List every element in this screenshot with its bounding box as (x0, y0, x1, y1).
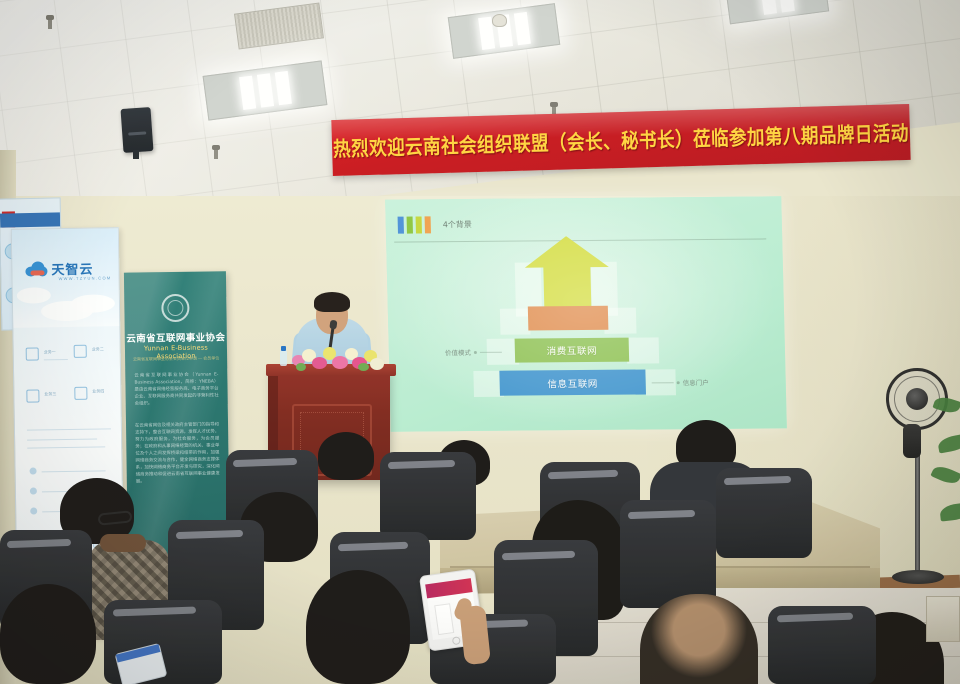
conference-photo-scene: 热烈欢迎云南社会组织联盟（会长、秘书长）莅临参加第八期品牌日活动 4个背景 (0, 0, 960, 684)
service-icon (74, 387, 87, 400)
service-label: 业务四 (92, 388, 104, 394)
service-icon (74, 345, 87, 358)
bullet-icon (30, 507, 37, 514)
audience-member (318, 432, 374, 480)
service-icon (26, 389, 39, 402)
side-table (926, 596, 960, 642)
pyramid-level-blue-label: 信息互联网 (547, 375, 598, 389)
poster-header-band (0, 212, 60, 227)
projection-screen: 4个背景 消费互联网 信息互联网 (385, 196, 787, 431)
plant-leaf (937, 434, 960, 454)
flower-leaf (296, 363, 306, 371)
audience-member (0, 584, 96, 684)
potted-plant (930, 398, 960, 538)
callout-dot-icon (677, 381, 680, 384)
chair[interactable] (716, 468, 812, 558)
callout-leader-line (480, 351, 502, 352)
tablet-app-header (425, 578, 473, 598)
section-divider (27, 446, 105, 448)
water-bottle-icon (280, 350, 287, 366)
cloud-logo-icon (25, 261, 47, 276)
bullet-icon (30, 487, 37, 494)
audience-head (306, 570, 410, 684)
plant-leaf (939, 502, 960, 521)
pyramid-callout-right-label: 信息门户 (683, 377, 709, 387)
bullet-icon (30, 467, 37, 474)
section-divider (27, 439, 97, 441)
flower (332, 356, 348, 369)
pyramid-level-green: 消费互联网 (515, 338, 630, 363)
wall-speaker-icon (121, 107, 154, 153)
ghost-block (627, 337, 660, 363)
audience-head (0, 584, 96, 684)
plant-leaf (930, 463, 960, 487)
flower-arrangement (290, 345, 386, 373)
flower-leaf (358, 363, 369, 371)
service-label: 业务二 (92, 346, 104, 352)
pyramid-level-blue: 信息互联网 (499, 369, 646, 395)
speaker-bracket (133, 150, 139, 159)
fan-hub (906, 388, 928, 410)
bullet-text-line (42, 470, 106, 472)
callout-dot-icon (474, 350, 477, 353)
chair[interactable] (620, 500, 716, 608)
service-label: 业务三 (44, 391, 56, 397)
pyramid-callout-right: 信息门户 (652, 377, 709, 387)
tablet-content-block (434, 603, 454, 635)
brand-url: WWW.TZYUN.COM (59, 275, 112, 281)
flower (370, 358, 384, 370)
pyramid-callout-left-label: 价值模式 (445, 347, 471, 357)
pyramid-diagram: 消费互联网 信息互联网 价值模式 信息门户 (385, 196, 787, 431)
fan-base (892, 570, 944, 584)
audience-scarf (100, 534, 146, 552)
dome-detector-icon (492, 14, 507, 27)
chair[interactable] (768, 606, 876, 684)
service-divider (44, 359, 68, 360)
audience-member (306, 570, 410, 684)
ghost-block (500, 308, 531, 334)
sprinkler-icon (214, 148, 218, 159)
section-divider (27, 428, 111, 430)
banner-text: 热烈欢迎云南社会组织联盟（会长、秘书长）莅临参加第八期品牌日活动 (333, 117, 910, 162)
pyramid-callout-left: 价值模式 (445, 347, 502, 357)
service-icon (26, 347, 39, 360)
tablet-home-button[interactable] (452, 636, 461, 645)
fan-motor-housing (903, 424, 921, 458)
service-label: 业务一 (44, 349, 56, 355)
plant-leaf (932, 394, 960, 415)
speaker-hair (314, 292, 350, 312)
ghost-block (604, 308, 637, 334)
pyramid-level-green-label: 消费互联网 (546, 343, 597, 357)
callout-leader-line (652, 382, 674, 383)
sprinkler-icon (48, 18, 52, 29)
pyramid-level-orange (528, 306, 609, 331)
chair[interactable] (380, 452, 476, 540)
audience-head (318, 432, 374, 480)
